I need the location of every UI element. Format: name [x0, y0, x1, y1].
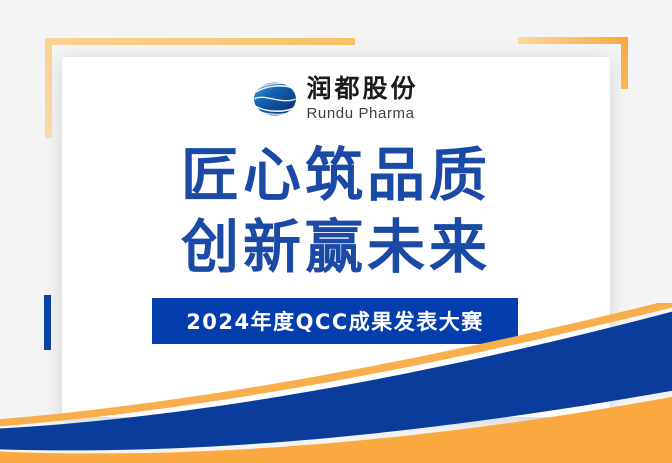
- left-blue-accent-tab: [44, 295, 51, 350]
- headline-block: 匠心筑品质 创新赢未来: [62, 139, 610, 283]
- bracket-vertical-bar: [621, 37, 628, 89]
- bracket-horizontal-bar: [518, 37, 628, 44]
- bracket-horizontal-bar: [45, 38, 355, 45]
- company-name-cn: 润都股份: [306, 76, 418, 101]
- rundu-oval-logo-icon: [253, 79, 297, 119]
- headline-line-2: 创新赢未来: [62, 211, 610, 283]
- poster-root: 润都股份 Rundu Pharma 匠心筑品质 创新赢未来 2024年度QCC成…: [0, 0, 672, 463]
- company-logo: 润都股份 Rundu Pharma: [62, 76, 610, 121]
- event-title-text: 2024年度QCC成果发表大赛: [186, 306, 484, 336]
- content-card: 润都股份 Rundu Pharma 匠心筑品质 创新赢未来 2024年度QCC成…: [62, 57, 610, 417]
- company-name-en: Rundu Pharma: [306, 106, 414, 121]
- event-title-banner: 2024年度QCC成果发表大赛: [152, 298, 518, 344]
- bracket-vertical-bar: [45, 38, 52, 138]
- company-logo-text: 润都股份 Rundu Pharma: [306, 76, 418, 121]
- headline-line-1: 匠心筑品质: [62, 139, 610, 211]
